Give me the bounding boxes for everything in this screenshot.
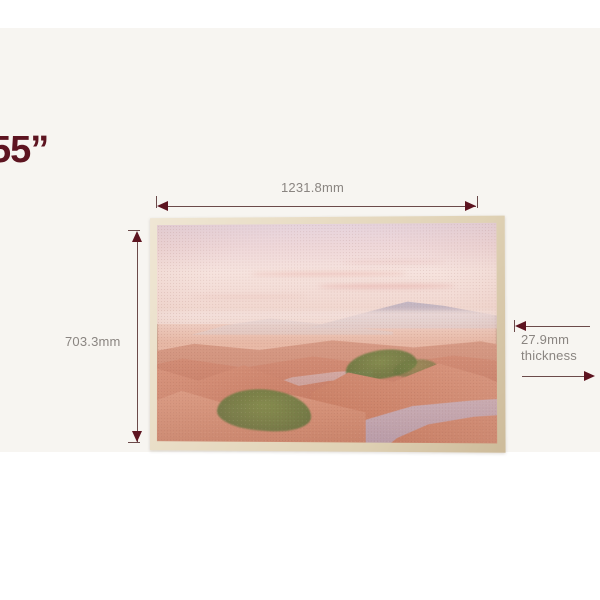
width-dimension-line: [160, 206, 476, 207]
arrow-left-icon: [157, 201, 168, 211]
arrow-left-icon: [515, 321, 526, 331]
height-extension-tick-bottom: [128, 442, 140, 443]
tv-screen-artwork: [157, 223, 497, 444]
frame-television: [150, 218, 498, 450]
thickness-unit-label: thickness: [521, 348, 577, 363]
height-dimension-label: 703.3mm: [65, 334, 121, 350]
arrow-right-icon: [584, 371, 595, 381]
thickness-dimension-label: 27.9mmthickness: [521, 332, 577, 365]
screen-size-badge: 55”: [0, 131, 48, 169]
thickness-value: 27.9mm: [521, 332, 569, 347]
width-dimension-label: 1231.8mm: [281, 180, 344, 196]
height-dimension-line: [137, 234, 138, 442]
thickness-dimension-line-top: [522, 326, 590, 327]
artwork-vignette: [157, 223, 497, 444]
arrow-down-icon: [132, 431, 142, 442]
arrow-up-icon: [132, 231, 142, 242]
product-dimension-diagram: 55”: [0, 0, 600, 600]
arrow-right-icon: [465, 201, 476, 211]
width-extension-tick-right: [477, 196, 478, 208]
tv-wooden-frame: [150, 216, 506, 453]
thickness-dimension-line-bottom: [522, 376, 585, 377]
